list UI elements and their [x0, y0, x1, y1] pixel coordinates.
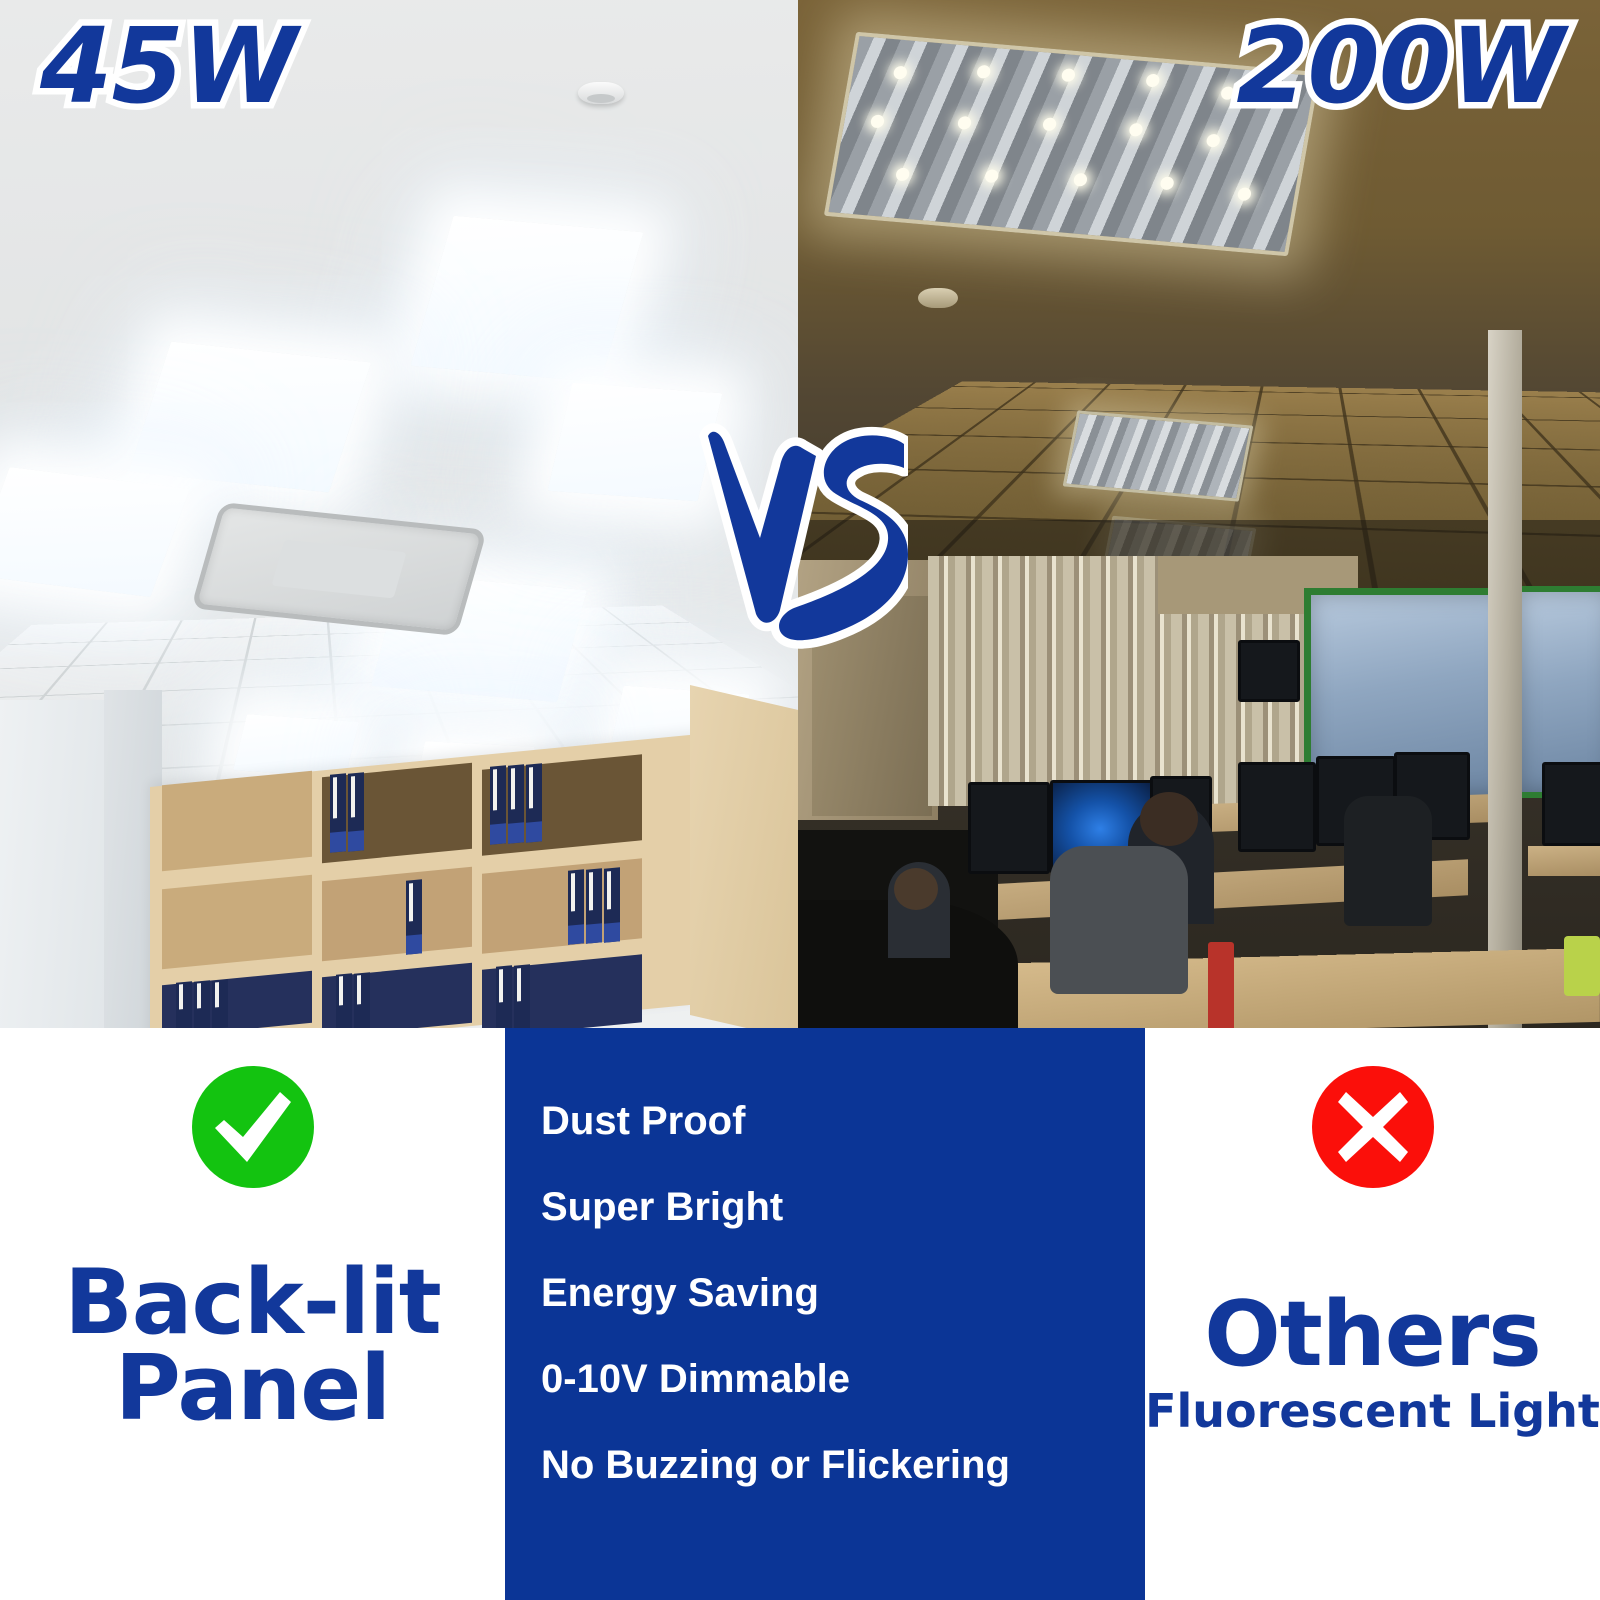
backlit-title-line2: Panel [115, 1336, 390, 1441]
column-others: Others Fluorescent Light [1145, 1028, 1600, 1600]
feature-item: No Buzzing or Flickering [541, 1444, 1139, 1486]
fluorescent-troffer-secondary-icon [1063, 410, 1254, 501]
feature-item: Energy Saving [541, 1272, 1139, 1314]
green-check-circle-icon [192, 1066, 314, 1188]
smoke-detector-right-icon [918, 288, 958, 308]
wattage-badge-left: 45W [40, 14, 296, 118]
column-title-others: Others [1204, 1292, 1541, 1378]
comparison-photo-row: 45W 200W [0, 0, 1600, 1028]
wattage-badge-right: 200W [1236, 14, 1564, 118]
column-subtitle-others: Fluorescent Light [1145, 1384, 1600, 1438]
column-backlit-panel: Back-lit Panel [0, 1028, 505, 1600]
feature-item: Super Bright [541, 1186, 1139, 1228]
photo-fluorescent-light [798, 0, 1600, 1028]
feature-item: Dust Proof [541, 1100, 1139, 1142]
red-cross-circle-icon [1312, 1066, 1434, 1188]
column-title-backlit: Back-lit Panel [64, 1260, 441, 1433]
feature-item: 0-10V Dimmable [541, 1358, 1139, 1400]
bottom-comparison-bar: Back-lit Panel Dust Proof Super Bright E… [0, 1028, 1600, 1600]
vs-badge [676, 398, 908, 656]
structural-column [1488, 330, 1522, 1028]
office-chair [1050, 846, 1188, 994]
feature-list-panel: Dust Proof Super Bright Energy Saving 0-… [505, 1028, 1145, 1600]
infographic-canvas: 45W 200W Back-lit Panel Dust Proof Super… [0, 0, 1600, 1600]
smoke-detector-icon [578, 82, 624, 104]
